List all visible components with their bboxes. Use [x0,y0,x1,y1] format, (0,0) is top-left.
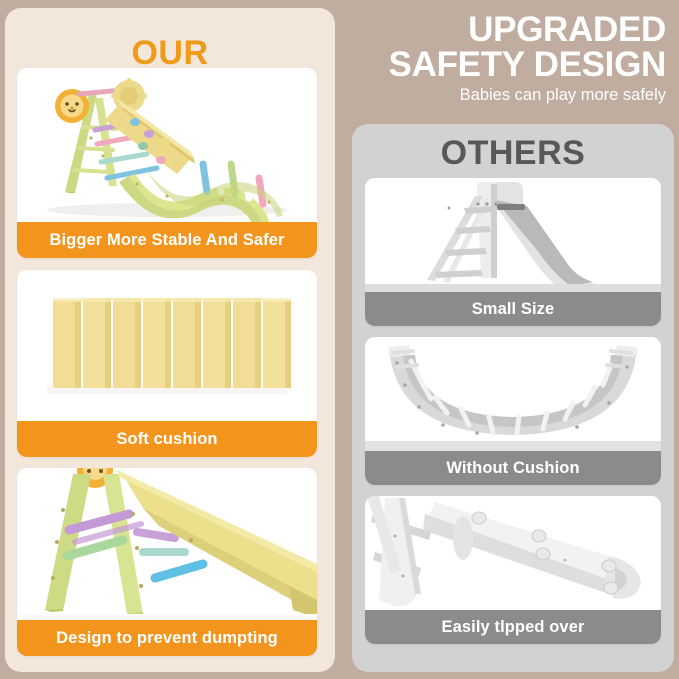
hero-subtitle: Babies can play more safely [460,86,666,105]
hero-title-line2: SAFETY DESIGN [389,48,666,82]
our-card-2[interactable]: Soft cushion [17,270,317,457]
our-card-1-caption: Bigger More Stable And Safer [17,222,317,258]
others-card-2-caption: Without Cushion [365,451,661,485]
others-card-1-image [365,178,661,292]
small-slide-grayscale-illustration [365,178,661,292]
others-card-1[interactable]: Small Size [365,178,661,326]
our-card-3-image [17,468,317,620]
hero-title-line1: UPGRADED [468,13,666,47]
others-panel-title: OTHERS [352,134,674,173]
others-card-3-caption: Easily tlpped over [365,610,661,644]
our-card-2-caption: Soft cushion [17,421,317,457]
comparison-infographic: UPGRADED SAFETY DESIGN Babies can play m… [0,0,679,679]
hero-header: UPGRADED SAFETY DESIGN Babies can play m… [352,4,674,114]
others-card-1-caption: Small Size [365,292,661,326]
others-card-3-image [365,496,661,610]
our-card-1-image [17,68,317,222]
climbing-triangle-slide-illustration [17,68,317,222]
soft-cushion-pads-illustration [17,270,317,421]
others-card-2[interactable]: Without Cushion [365,337,661,485]
tipped-over-frame-illustration [365,496,661,610]
arched-rocker-no-cushion-illustration [365,337,661,451]
our-card-3-caption: Design to prevent dumpting [17,620,317,656]
triangle-frame-closeup-illustration [17,468,317,620]
others-card-3[interactable]: Easily tlpped over [365,496,661,644]
others-card-2-image [365,337,661,451]
our-card-1[interactable]: Bigger More Stable And Safer [17,68,317,258]
our-card-3[interactable]: Design to prevent dumpting [17,468,317,656]
our-card-2-image [17,270,317,421]
